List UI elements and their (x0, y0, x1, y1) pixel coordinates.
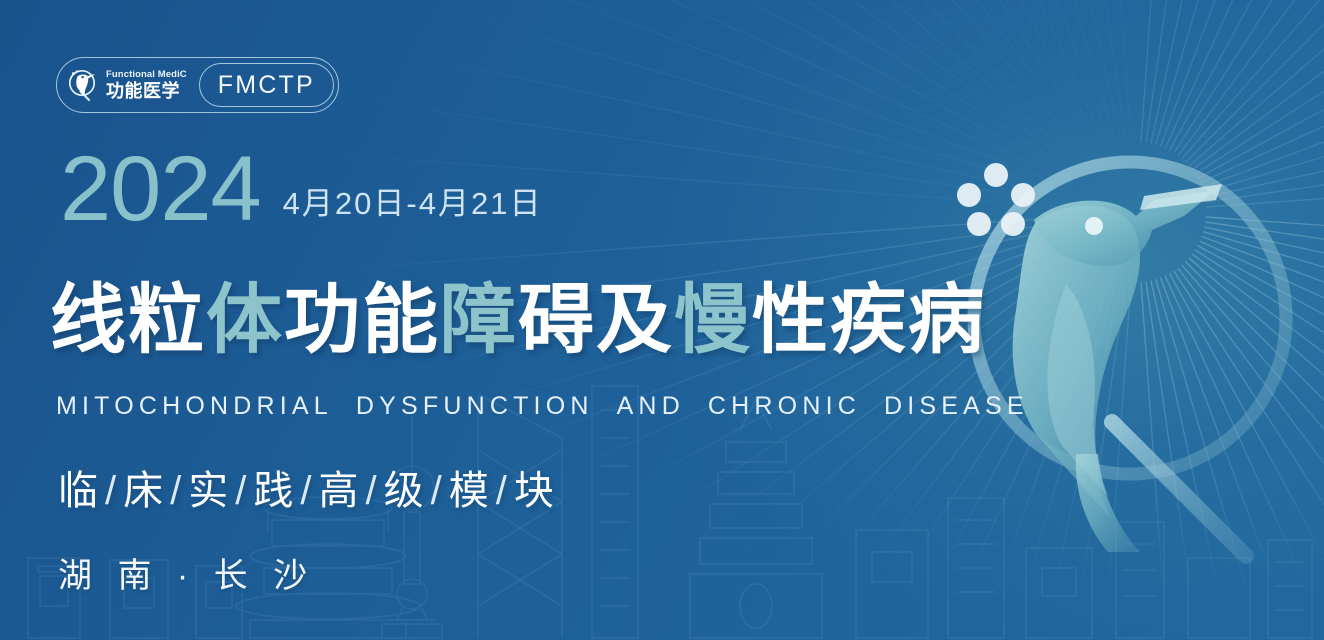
brand-logo-lockup: Functional MediC 功能医学 FMCTP (56, 57, 339, 113)
brand-logo-words: Functional MediC 功能医学 (106, 70, 187, 100)
event-year: 2024 (60, 146, 261, 233)
brand-abbreviation-label: FMCTP (218, 71, 315, 100)
brand-abbreviation-pill: FMCTP (199, 63, 334, 107)
brand-english-name: Functional MediC (106, 70, 187, 80)
event-poster: Functional MediC 功能医学 FMCTP 2024 4月20日-4… (0, 0, 1324, 640)
bird-in-q-icon (67, 68, 101, 102)
poster-content: Functional MediC 功能医学 FMCTP 2024 4月20日-4… (0, 0, 1324, 640)
event-title-cn: 线粒体功能障碍及慢性疾病 (50, 283, 986, 359)
event-title-en: MITOCHONDRIAL DYSFUNCTION AND CHRONIC DI… (56, 392, 1029, 421)
brand-logo-left: Functional MediC 功能医学 (63, 58, 197, 112)
event-location: 湖 南 · 长 沙 (58, 548, 315, 597)
event-year-row: 2024 4月20日-4月21日 (60, 146, 542, 233)
brand-chinese-name: 功能医学 (106, 82, 187, 100)
event-date-range: 4月20日-4月21日 (283, 178, 543, 223)
event-module-line: 临/床/实/践/高/级/模/块 (58, 458, 557, 516)
